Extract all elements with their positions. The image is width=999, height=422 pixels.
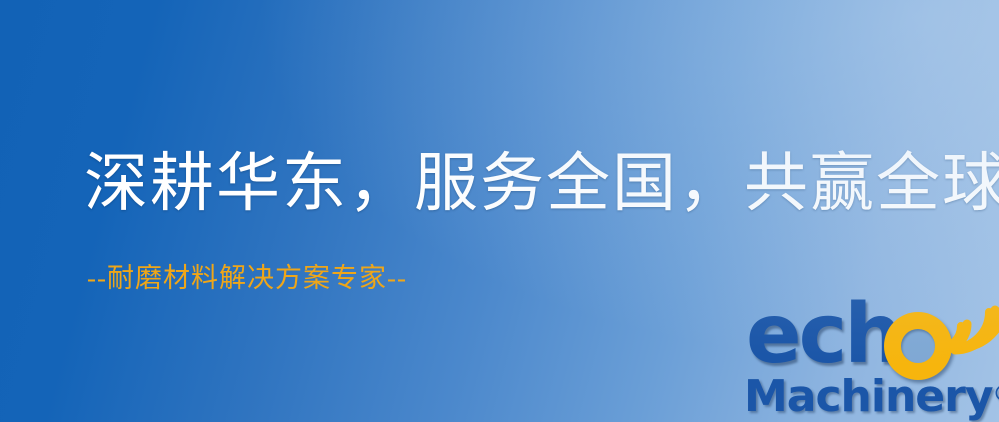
logo-wordmark: ech [746,292,999,380]
logo-tagline: Machinery® [744,372,999,420]
promo-banner: 深耕华东，服务全国，共赢全球 --耐磨材料解决方案专家-- ech [0,0,999,422]
banner-subtitle: --耐磨材料解决方案专家-- [87,265,407,292]
logo-tagline-text: Machinery [744,371,993,422]
company-logo: ech [742,292,999,422]
registered-trademark-icon: ® [993,382,999,407]
logo-o-hole [901,329,935,363]
signal-waves-icon [932,284,999,358]
logo-wordmark-text: ech [746,294,900,376]
banner-headline: 深耕华东，服务全国，共赢全球 [84,152,999,216]
